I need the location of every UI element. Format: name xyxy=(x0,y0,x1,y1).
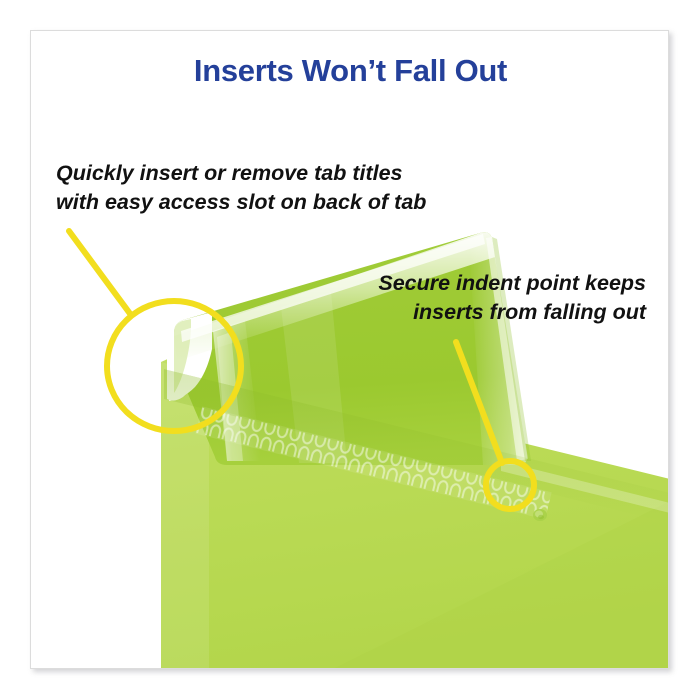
callout-right-line-2: inserts from falling out xyxy=(378,298,646,327)
screenshot-canvas: Inserts Won’t Fall Out Quickly insert or… xyxy=(0,0,700,700)
callout-circle-right xyxy=(486,461,534,509)
crimp-texture xyxy=(195,406,551,519)
callout-label-access-slot: Quickly insert or remove tab titles with… xyxy=(56,159,426,217)
product-photo xyxy=(31,31,669,669)
callout-marker-access-slot xyxy=(69,231,241,431)
callout-label-secure-indent: Secure indent point keeps inserts from f… xyxy=(378,269,646,327)
callout-circle-left xyxy=(107,301,241,431)
product-feature-card: Inserts Won’t Fall Out Quickly insert or… xyxy=(30,30,669,669)
tab-fold-crimp xyxy=(164,369,669,523)
divider-body xyxy=(161,357,669,669)
callout-marker-secure-indent xyxy=(456,342,534,509)
product-illustration xyxy=(31,31,669,669)
page-title: Inserts Won’t Fall Out xyxy=(31,53,669,89)
callout-left-line-1: Quickly insert or remove tab titles xyxy=(56,161,403,185)
callout-leader-line-right xyxy=(456,342,502,463)
insertable-tab-strip xyxy=(167,232,531,465)
secure-indent-point-feature xyxy=(533,509,547,521)
callout-right-line-1: Secure indent point keeps xyxy=(378,271,646,295)
callout-marker-layer xyxy=(31,31,669,669)
callout-left-line-2: with easy access slot on back of tab xyxy=(56,188,426,217)
callout-leader-line-left xyxy=(69,231,131,315)
